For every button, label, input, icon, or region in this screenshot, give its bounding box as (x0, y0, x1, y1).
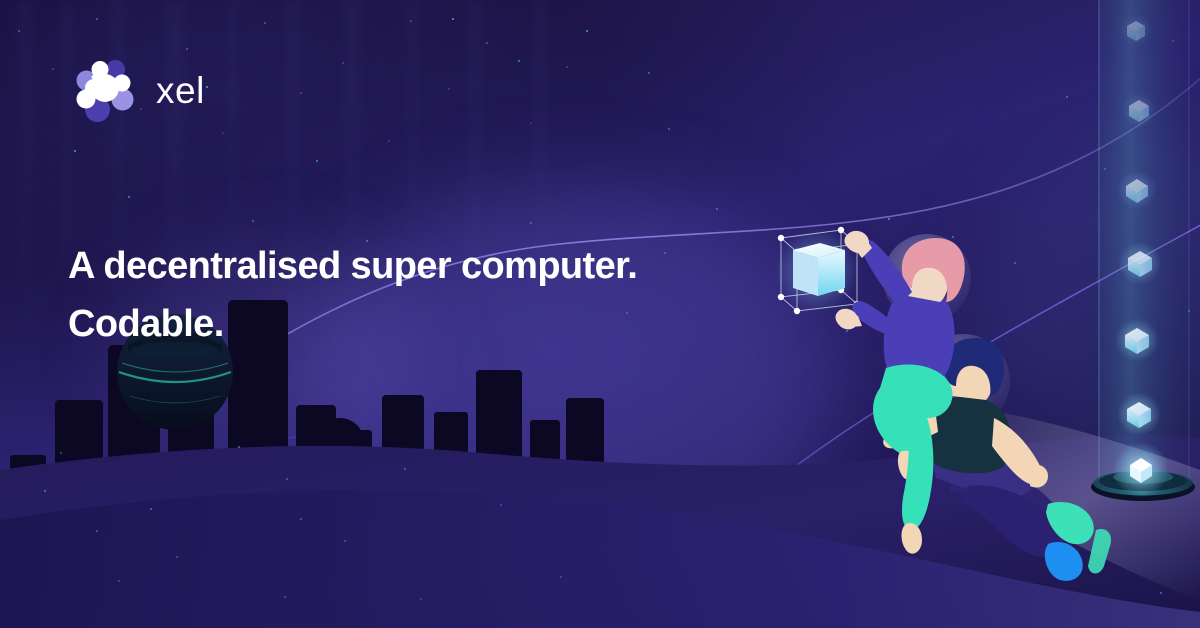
headline-line-2: Codable. (68, 296, 788, 354)
hero-headline: A decentralised super computer. Codable. (68, 238, 788, 354)
brand-wordmark: xel (156, 72, 205, 109)
hero-banner: xel A decentralised super computer. Coda… (0, 0, 1200, 628)
brand-logo[interactable]: xel (66, 52, 205, 128)
molecule-cluster-icon (66, 52, 142, 128)
headline-line-1: A decentralised super computer. (68, 238, 788, 296)
